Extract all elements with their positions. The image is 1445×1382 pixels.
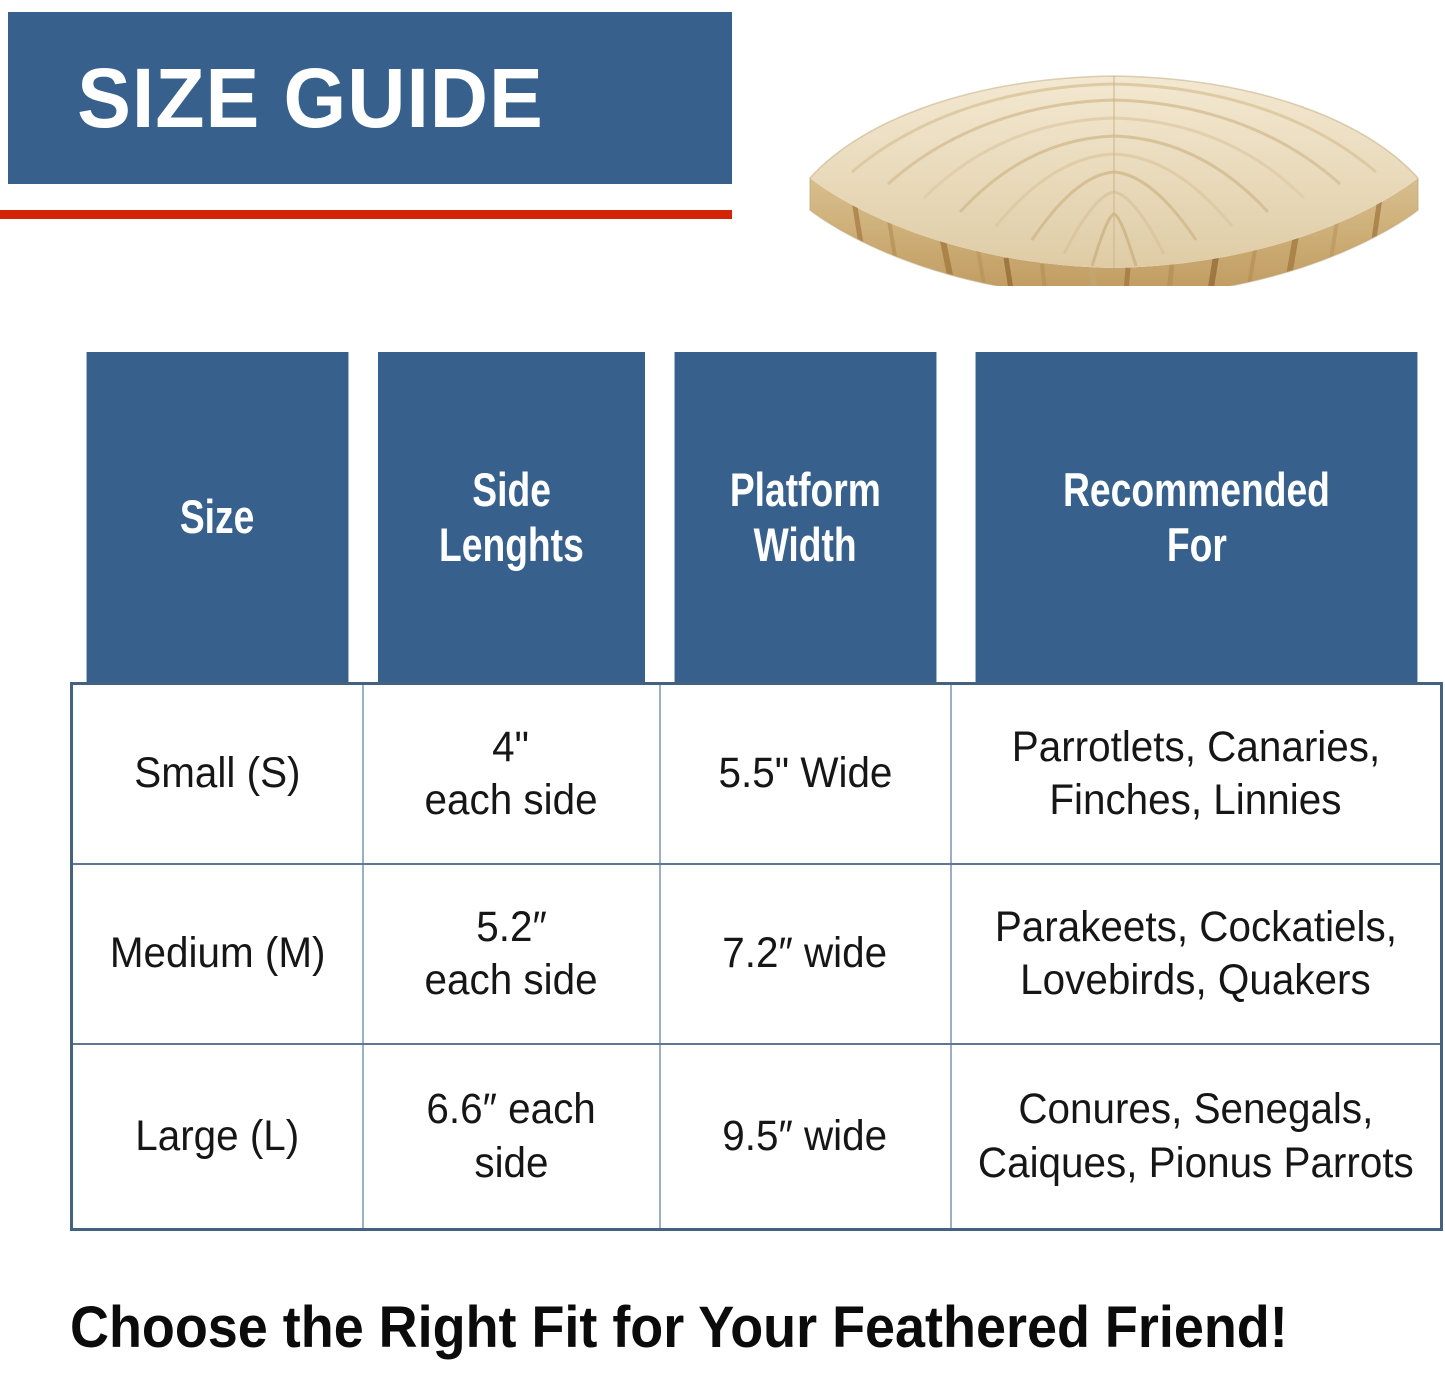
cell-platform-width-small-text: 5.5" Wide bbox=[718, 747, 892, 800]
column-header-recommended-for-line-1: Recommended bbox=[1063, 462, 1330, 517]
cell-recommended-for-large-line-2: Caiques, Pionus Parrots bbox=[978, 1137, 1414, 1190]
column-header-recommended-for: Recommended For bbox=[975, 352, 1417, 684]
table-row: Medium (M) 5.2″ each side 7.2″ wide Para… bbox=[72, 864, 1442, 1044]
cell-recommended-for-small-line-1: Parrotlets, Canaries, bbox=[1012, 721, 1380, 774]
cell-recommended-for-medium-line-1: Parakeets, Cockatiels, bbox=[995, 901, 1397, 954]
cell-size-small-text: Small (S) bbox=[134, 747, 300, 800]
cell-platform-width-large: 9.5″ wide bbox=[660, 1044, 951, 1230]
column-header-side-lengths: Side Lenghts bbox=[377, 352, 644, 684]
product-image-corner-shelf bbox=[792, 68, 1436, 286]
column-header-recommended-for-line-2: For bbox=[1166, 517, 1226, 572]
cell-recommended-for-small-line-2: Finches, Linnies bbox=[1050, 774, 1342, 827]
cell-size-small: Small (S) bbox=[72, 684, 363, 865]
cell-recommended-for-medium-line-2: Lovebirds, Quakers bbox=[1020, 954, 1370, 1007]
cell-side-lengths-large-line-2: side bbox=[474, 1137, 548, 1190]
cell-side-lengths-medium: 5.2″ each side bbox=[363, 864, 660, 1044]
table-row: Large (L) 6.6″ each side 9.5″ wide Conur… bbox=[72, 1044, 1442, 1230]
cell-side-lengths-medium-line-1: 5.2″ bbox=[476, 901, 547, 954]
table-row: Small (S) 4" each side 5.5" Wide Parrotl… bbox=[72, 684, 1442, 865]
cell-side-lengths-small-line-2: each side bbox=[424, 774, 597, 827]
cell-size-large-text: Large (L) bbox=[135, 1110, 299, 1163]
cell-size-large: Large (L) bbox=[72, 1044, 363, 1230]
size-guide-page: SIZE GUIDE bbox=[0, 0, 1445, 1382]
cell-recommended-for-small: Parrotlets, Canaries, Finches, Linnies bbox=[951, 684, 1442, 865]
cell-platform-width-medium: 7.2″ wide bbox=[660, 864, 951, 1044]
table-header: Size Side Lenghts Platform Width Recomme… bbox=[72, 352, 1442, 684]
cell-recommended-for-large-line-1: Conures, Senegals, bbox=[1018, 1083, 1373, 1136]
accent-rule-divider bbox=[0, 210, 732, 219]
cell-platform-width-small: 5.5" Wide bbox=[660, 684, 951, 865]
corner-shelf-illustration bbox=[792, 68, 1436, 286]
title-banner: SIZE GUIDE bbox=[8, 12, 732, 184]
cell-side-lengths-large: 6.6″ each side bbox=[363, 1044, 660, 1230]
footer-tagline: Choose the Right Fit for Your Feathered … bbox=[70, 1296, 1344, 1360]
table-header-row: Size Side Lenghts Platform Width Recomme… bbox=[72, 352, 1442, 684]
column-header-platform-width-line-1: Platform bbox=[729, 462, 880, 517]
cell-recommended-for-medium: Parakeets, Cockatiels, Lovebirds, Quaker… bbox=[951, 864, 1442, 1044]
cell-size-medium-text: Medium (M) bbox=[109, 927, 325, 980]
column-header-side-lengths-line-1: Side bbox=[472, 462, 551, 517]
page-title: SIZE GUIDE bbox=[8, 56, 544, 140]
cell-side-lengths-large-line-1: 6.6″ each bbox=[426, 1083, 595, 1136]
cell-side-lengths-medium-line-2: each side bbox=[424, 954, 597, 1007]
column-header-side-lengths-line-2: Lenghts bbox=[439, 517, 584, 572]
cell-side-lengths-small: 4" each side bbox=[363, 684, 660, 865]
size-guide-table: Size Side Lenghts Platform Width Recomme… bbox=[70, 352, 1443, 1231]
column-header-size-line-1: Size bbox=[180, 489, 254, 544]
cell-platform-width-medium-text: 7.2″ wide bbox=[723, 927, 888, 980]
cell-recommended-for-large: Conures, Senegals, Caiques, Pionus Parro… bbox=[951, 1044, 1442, 1230]
cell-size-medium: Medium (M) bbox=[72, 864, 363, 1044]
cell-side-lengths-small-line-1: 4" bbox=[493, 721, 530, 774]
column-header-platform-width-line-2: Width bbox=[753, 517, 856, 572]
column-header-size: Size bbox=[86, 352, 348, 684]
cell-platform-width-large-text: 9.5″ wide bbox=[723, 1110, 888, 1163]
table-body: Small (S) 4" each side 5.5" Wide Parrotl… bbox=[72, 684, 1442, 1230]
column-header-platform-width: Platform Width bbox=[674, 352, 936, 684]
